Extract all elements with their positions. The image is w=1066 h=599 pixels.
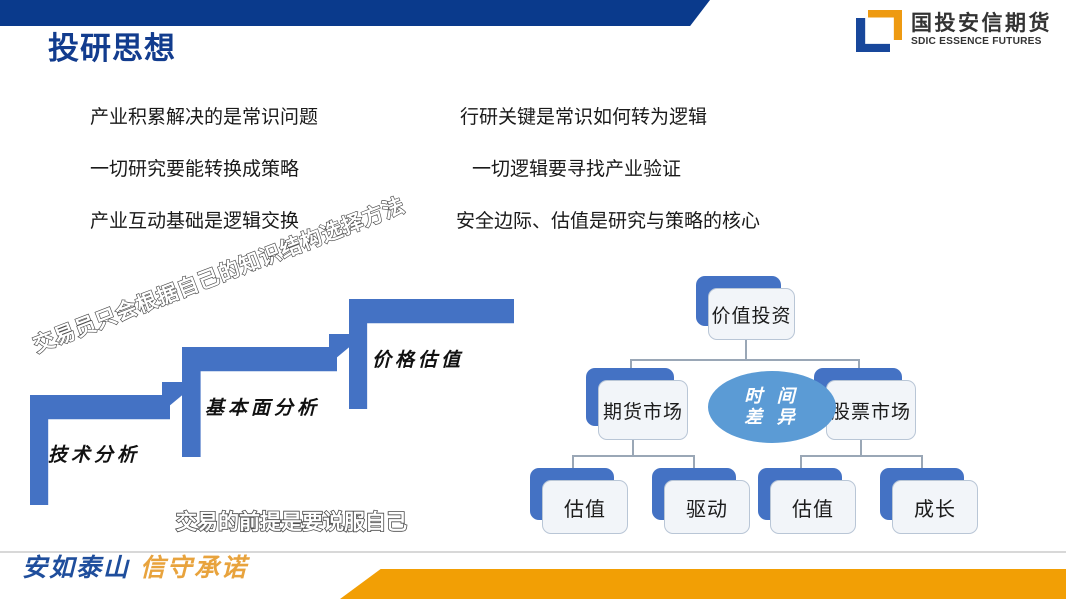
footer-slogan: 安如泰山信守承诺 bbox=[22, 556, 248, 581]
org-node-futures-driver[interactable]: 驱动 bbox=[652, 468, 736, 520]
connector-futures-down bbox=[632, 440, 634, 456]
statement-right: 行研关键是常识如何转为逻辑 bbox=[460, 108, 707, 127]
logo-wordmark: 国投安信期货 SDIC ESSENCE FUTURES bbox=[911, 13, 1052, 48]
slide-canvas: 投研思想 国投安信期货 SDIC ESSENCE FUTURES 产业积累解决的… bbox=[0, 0, 1066, 599]
node-face: 驱动 bbox=[664, 480, 750, 534]
node-face: 估值 bbox=[770, 480, 856, 534]
footer-accent-bar bbox=[340, 569, 1066, 599]
node-face: 成长 bbox=[892, 480, 978, 534]
ellipse-line-1: 时 间 bbox=[744, 386, 800, 407]
connector-stocks-down bbox=[860, 440, 862, 456]
staircase-label-2: 基本面分析 bbox=[205, 393, 320, 420]
org-node-label: 股票市场 bbox=[831, 397, 911, 424]
connector-stocks-horizontal bbox=[800, 455, 922, 457]
org-node-stock-valuation[interactable]: 估值 bbox=[758, 468, 842, 520]
staircase-label-1: 技术分析 bbox=[48, 440, 140, 467]
footer-slogan-orange: 信守承诺 bbox=[140, 555, 248, 582]
footer-divider bbox=[0, 551, 1066, 553]
org-node-futures-valuation[interactable]: 估值 bbox=[530, 468, 614, 520]
footer-slogan-blue: 安如泰山 bbox=[22, 555, 130, 582]
node-face: 期货市场 bbox=[598, 380, 688, 440]
connector-futures-horizontal bbox=[572, 455, 694, 457]
org-node-stock-growth[interactable]: 成长 bbox=[880, 468, 964, 520]
org-node-label: 价值投资 bbox=[711, 301, 791, 328]
statement-left: 产业互动基础是逻辑交换 bbox=[90, 212, 299, 231]
statement-row: 产业互动基础是逻辑交换 安全边际、估值是研究与策略的核心 bbox=[0, 202, 1066, 252]
org-node-root[interactable]: 价值投资 bbox=[696, 276, 781, 326]
node-face: 价值投资 bbox=[708, 288, 795, 340]
orange-bracket-icon bbox=[868, 10, 902, 40]
org-node-label: 驱动 bbox=[686, 493, 728, 522]
statement-left: 一切研究要能转换成策略 bbox=[90, 160, 299, 179]
time-difference-ellipse: 时 间 差 异 bbox=[708, 371, 836, 443]
org-node-label: 估值 bbox=[792, 493, 834, 522]
statement-left: 产业积累解决的是常识问题 bbox=[90, 108, 318, 127]
org-node-label: 成长 bbox=[914, 493, 956, 522]
statement-row: 一切研究要能转换成策略 一切逻辑要寻找产业验证 bbox=[0, 150, 1066, 200]
statement-right: 安全边际、估值是研究与策略的核心 bbox=[456, 212, 760, 231]
node-face: 股票市场 bbox=[826, 380, 916, 440]
org-node-label: 估值 bbox=[564, 493, 606, 522]
company-logo: 国投安信期货 SDIC ESSENCE FUTURES bbox=[856, 8, 1052, 54]
wordart-bottom: 交易的前提是要说服自己 bbox=[176, 506, 407, 536]
node-face: 估值 bbox=[542, 480, 628, 534]
statement-row: 产业积累解决的是常识问题 行研关键是常识如何转为逻辑 bbox=[0, 98, 1066, 148]
logo-name-cn: 国投安信期货 bbox=[911, 13, 1052, 35]
ellipse-line-2: 差 异 bbox=[744, 407, 800, 428]
logo-name-en: SDIC ESSENCE FUTURES bbox=[911, 35, 1048, 48]
header-accent-bar bbox=[0, 0, 710, 26]
blue-bracket-icon bbox=[856, 18, 890, 52]
logo-mark-icon bbox=[856, 10, 902, 52]
statement-right: 一切逻辑要寻找产业验证 bbox=[472, 160, 681, 179]
staircase-label-3: 价格估值 bbox=[372, 345, 464, 372]
connector-level1-horizontal bbox=[630, 359, 860, 361]
page-title: 投研思想 bbox=[48, 32, 176, 66]
org-node-futures-market[interactable]: 期货市场 bbox=[586, 368, 674, 426]
org-chart-diagram: 价值投资 期货市场 股票市场 时 间 差 异 估值 bbox=[500, 268, 1066, 558]
statements-block: 产业积累解决的是常识问题 行研关键是常识如何转为逻辑 一切研究要能转换成策略 一… bbox=[0, 98, 1066, 248]
org-node-label: 期货市场 bbox=[603, 397, 683, 424]
